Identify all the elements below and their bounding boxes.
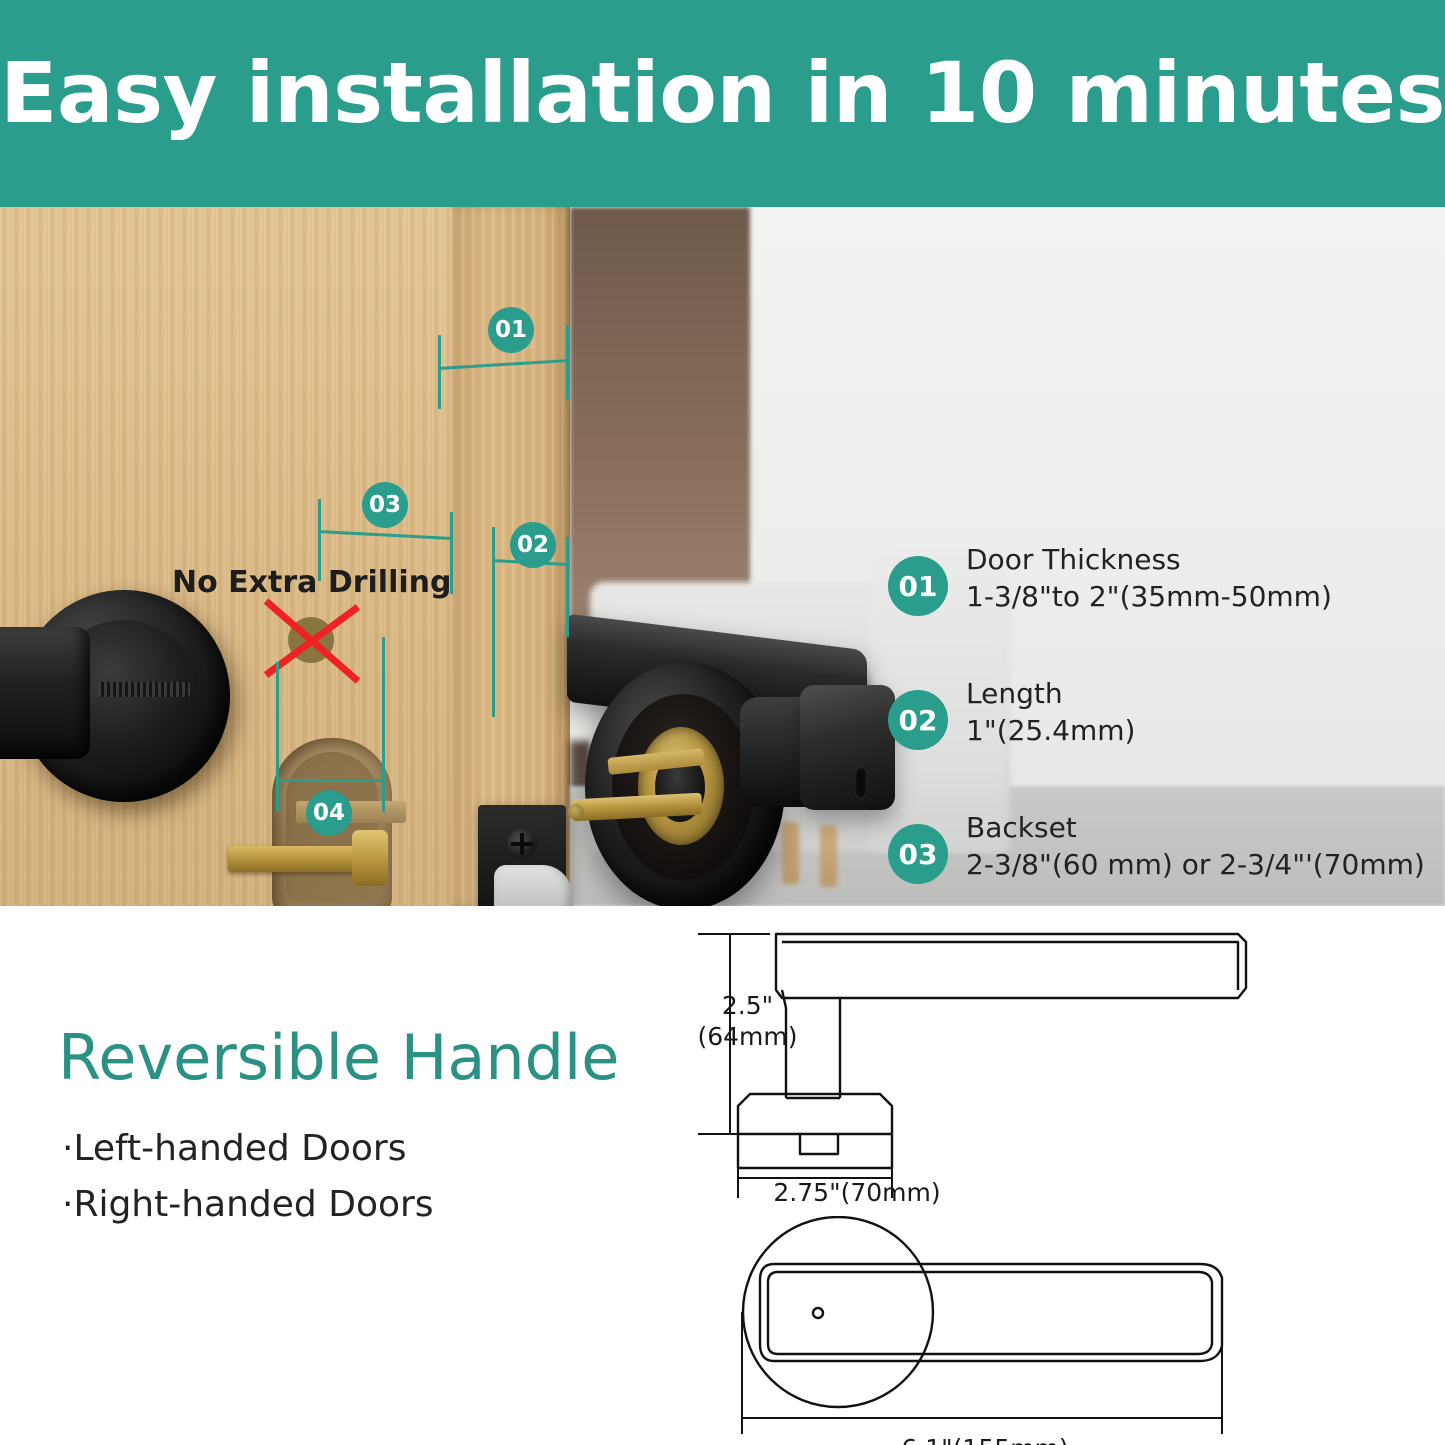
lever-stub [0,627,90,759]
dim-04-line [276,779,384,782]
dim-height-label: 2.5" (64mm) [685,991,810,1052]
spec-row-03: 03 Backset 2-3/8"(60 mm) or 2-3/4"'(70mm… [888,810,1418,906]
dim-02-tick-left [492,527,495,717]
badge-03: 03 [362,482,408,528]
spec-row-01: 01 Door Thickness 1-3/8"to 2"(35mm-50mm) [888,542,1418,676]
spec-value-01: 1-3/8"to 2"(35mm-50mm) [966,578,1332,616]
dim-length-label: 6.1"(155mm) [860,1434,1110,1445]
lever-end-cap [800,685,895,810]
charging-port-icon [855,767,867,799]
dim-04-tick-right [382,637,385,812]
spec-title-03: Backset [966,810,1425,846]
spec-title-02: Length [966,676,1135,712]
product-infographic: Easy installation in 10 minutes [0,0,1445,1445]
spec-text-02: Length 1"(25.4mm) [966,676,1135,749]
dim-base-width-label: 2.75"(70mm) [762,1178,952,1209]
spec-list: 01 Door Thickness 1-3/8"to 2"(35mm-50mm)… [888,542,1418,906]
installation-photo: No Extra Drilling 01 03 02 04 01 [0,207,1445,906]
spec-value-03: 2-3/8"(60 mm) or 2-3/4"'(70mm) [966,846,1425,884]
dim-height-line1: 2.5" [685,991,810,1022]
side-view-drawing [690,916,1330,1206]
spec-title-01: Door Thickness [966,542,1332,578]
spec-text-01: Door Thickness 1-3/8"to 2"(35mm-50mm) [966,542,1332,615]
sofa-leg [820,825,837,887]
spindle-hub [352,830,388,886]
badge-01: 01 [488,307,534,353]
dim-03-tick-right [450,512,453,594]
dim-04-tick-left [276,662,279,812]
brass-rod-tip [568,804,584,820]
header-banner: Easy installation in 10 minutes [0,0,1445,207]
red-x-icon [258,595,368,687]
spec-value-02: 1"(25.4mm) [966,712,1135,750]
badge-04: 04 [306,790,352,836]
reversible-section: Reversible Handle ·Left-handed Doors ·Ri… [0,906,1445,1445]
dim-01-tick-left [438,335,441,409]
spec-badge-01: 01 [888,556,948,616]
latch-bolt [494,865,572,906]
faceplate-screw-top-icon [507,829,537,859]
reversible-bullet-left: ·Left-handed Doors [62,1128,406,1169]
spec-badge-03: 03 [888,824,948,884]
spec-row-02: 02 Length 1"(25.4mm) [888,676,1418,810]
top-view-drawing [690,1216,1330,1445]
reversible-bullet-right: ·Right-handed Doors [62,1184,434,1225]
spec-text-03: Backset 2-3/8"(60 mm) or 2-3/4"'(70mm) [966,810,1425,883]
spec-badge-02: 02 [888,690,948,750]
technical-drawings: 2.5" (64mm) 2.75"(70mm) 6.1"(155mm) [690,906,1330,1445]
dim-02-tick-right [566,537,569,637]
reversible-title: Reversible Handle [58,1021,619,1094]
sofa-leg [782,822,799,884]
badge-02: 02 [510,522,556,568]
page-title: Easy installation in 10 minutes [0,47,1445,139]
mounting-screw [98,682,190,697]
dim-03-tick-left [318,499,321,581]
dim-height-line2: (64mm) [685,1022,810,1053]
